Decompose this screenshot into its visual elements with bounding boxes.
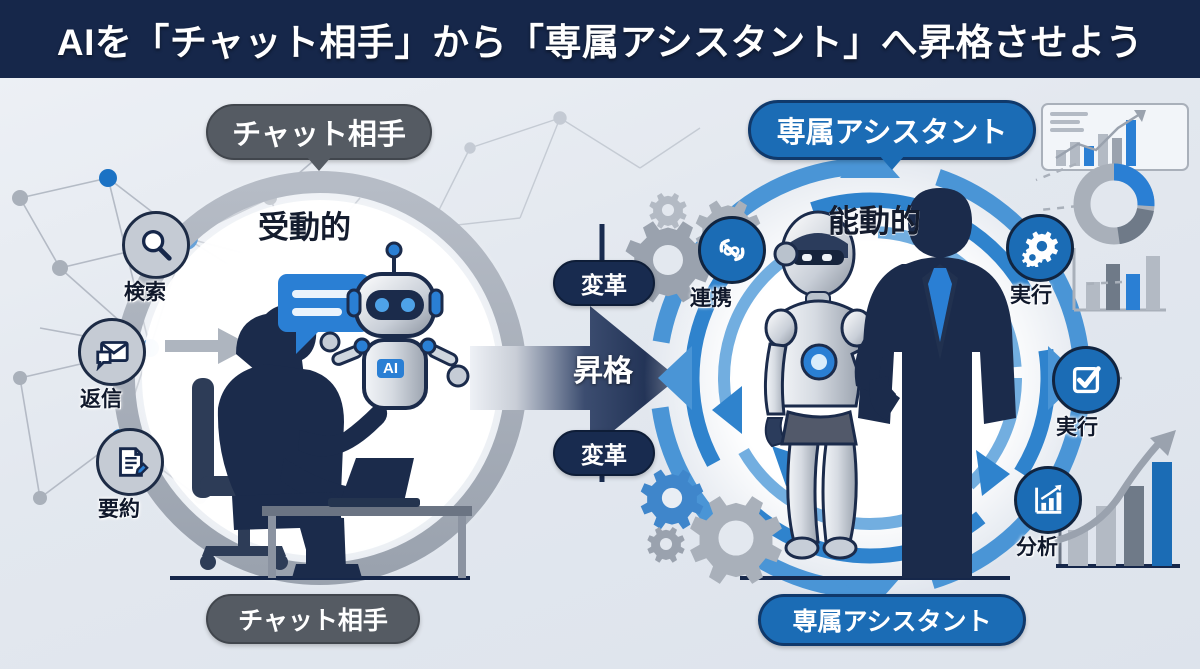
right-icon-caption-exec-check: 実行: [1056, 411, 1098, 441]
change-badge-bottom: 変革: [553, 430, 655, 476]
document-pencil-icon: [96, 428, 164, 496]
left-mode-label: 受動的: [258, 202, 351, 247]
right-icon-caption-exec-gear: 実行: [1010, 279, 1052, 309]
magnifier-icon: [122, 211, 190, 279]
gear-icon-glyph: [1021, 229, 1059, 267]
magnifier-icon-glyph: [137, 226, 175, 264]
right-icon-caption-analyze: 分析: [1016, 531, 1058, 561]
pill-tail: [306, 156, 332, 171]
robot-ai-chip: AI: [377, 359, 404, 378]
left-top-pill-label: チャット相手: [232, 111, 406, 153]
right-top-pill: 専属アシスタント: [748, 100, 1036, 160]
right-top-pill-label: 専属アシスタント: [777, 109, 1008, 151]
gear-icon: [1006, 214, 1074, 282]
bar-chart-icon: [1014, 466, 1082, 534]
envelope-reply-icon-glyph: [93, 333, 131, 371]
title-banner: AIを「チャット相手」から「専属アシスタント」へ昇格させよう: [0, 0, 1200, 78]
diagram-stage: チャット相手 専属アシスタント チャット相手 専属アシスタント 変革 変革 受動…: [0, 78, 1200, 669]
left-top-pill: チャット相手: [206, 104, 432, 160]
change-badge-top-label: 変革: [581, 266, 627, 300]
pill-tail: [879, 155, 905, 170]
link-sync-icon: [698, 216, 766, 284]
change-badge-top: 変革: [553, 260, 655, 306]
right-bottom-pill-label: 専属アシスタント: [792, 602, 991, 638]
checkbox-check-icon: [1052, 346, 1120, 414]
infographic-canvas: AIを「チャット相手」から「専属アシスタント」へ昇格させよう: [0, 0, 1200, 669]
document-pencil-icon-glyph: [111, 443, 149, 481]
donut-chart-decoration: [1077, 167, 1151, 241]
right-bottom-pill: 専属アシスタント: [758, 594, 1026, 646]
left-bottom-pill: チャット相手: [206, 594, 420, 644]
left-icon-caption-summary: 要約: [98, 493, 140, 523]
bar-chart-icon-glyph: [1029, 481, 1067, 519]
change-badge-bottom-label: 変革: [581, 436, 627, 470]
upgrade-arrow-label: 昇格: [548, 346, 658, 390]
page-title: AIを「チャット相手」から「専属アシスタント」へ昇格させよう: [57, 12, 1143, 66]
left-icon-caption-search: 検索: [124, 276, 166, 306]
envelope-reply-icon: [78, 318, 146, 386]
left-bottom-pill-label: チャット相手: [238, 601, 388, 637]
checkbox-check-icon-glyph: [1067, 361, 1105, 399]
mini-bar-chart-decoration: [1074, 248, 1166, 310]
right-mode-label: 能動的: [828, 196, 921, 241]
analytics-dashboard-decoration: [1042, 104, 1188, 170]
link-sync-icon-glyph: [713, 231, 751, 269]
left-icon-caption-reply: 返信: [80, 383, 122, 413]
right-icon-caption-link: 連携: [690, 282, 732, 312]
